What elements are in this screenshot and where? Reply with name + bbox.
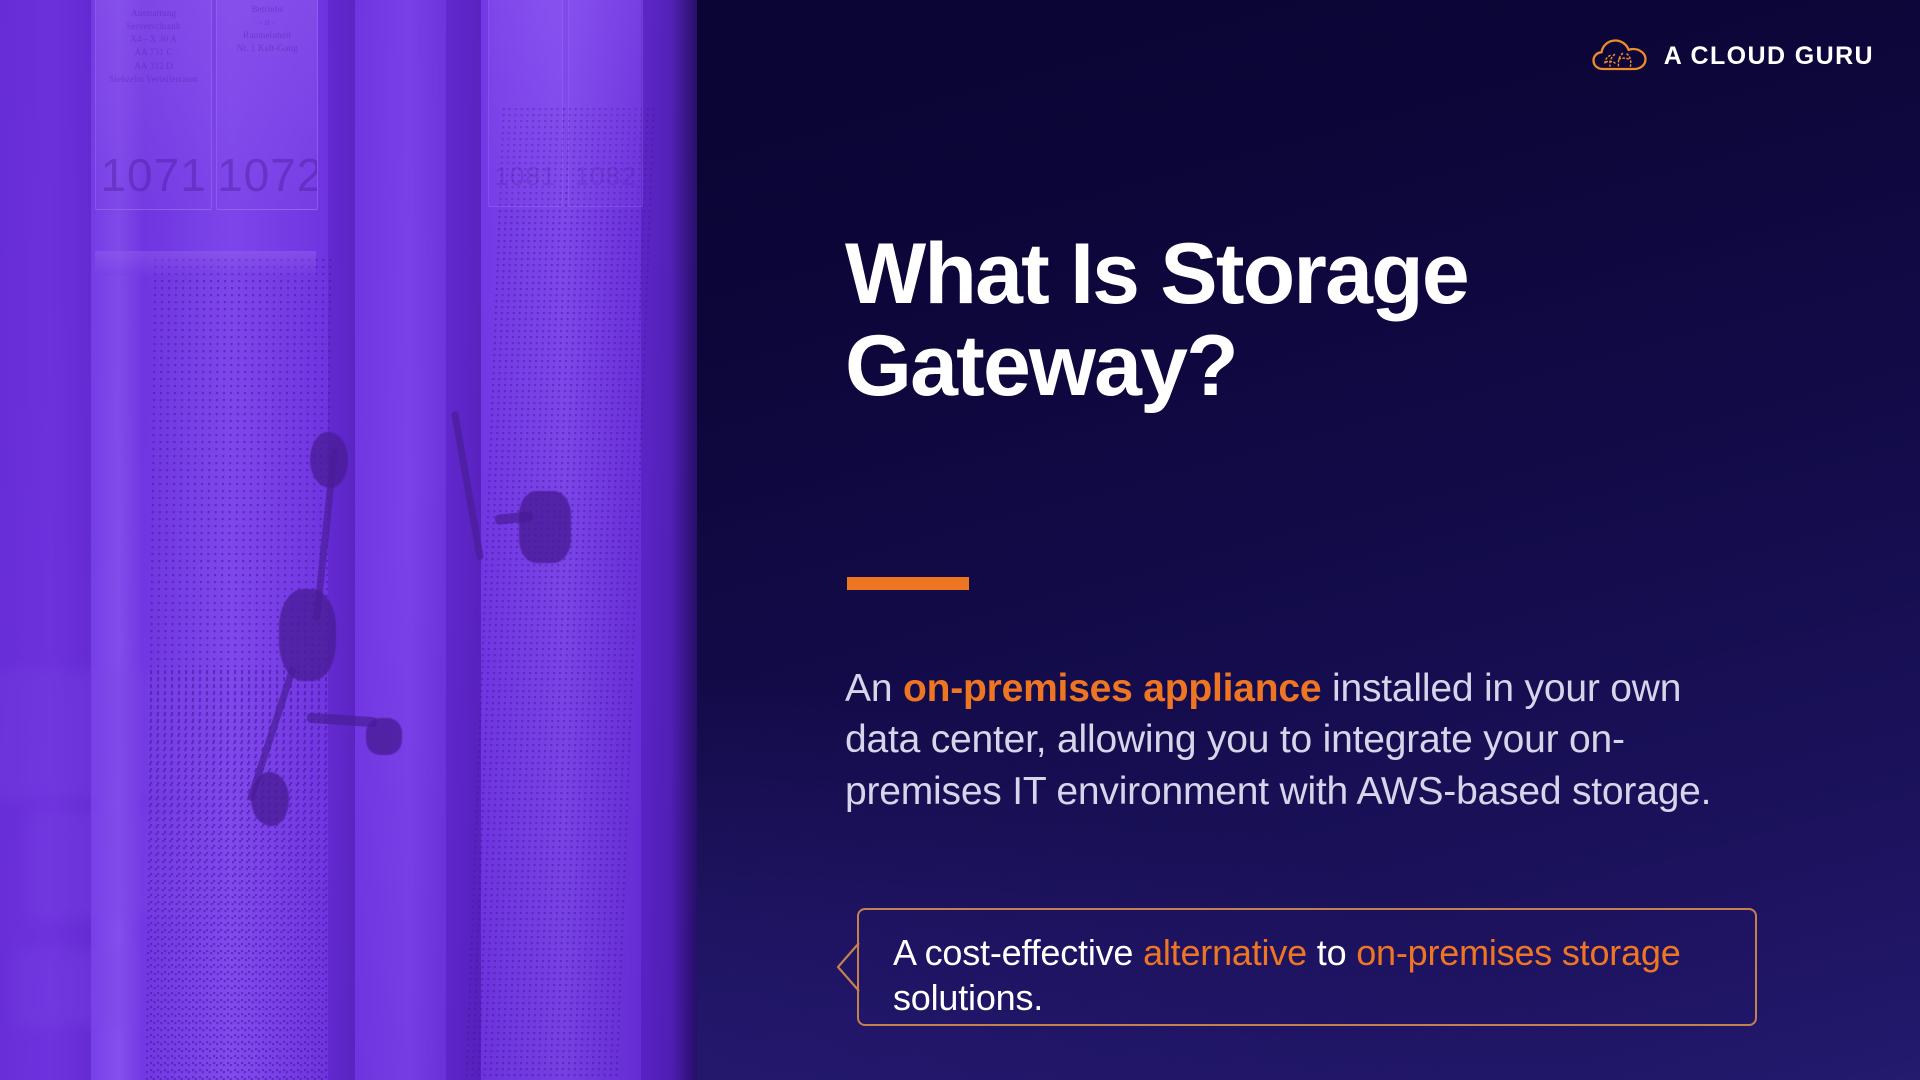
page-title: What Is Storage Gateway? [845, 228, 1605, 412]
orange-accent-bar [847, 577, 969, 590]
callout-paragraph: A cost-effective alternative to on-premi… [893, 930, 1729, 1021]
photo-purple-tint [0, 0, 697, 1080]
body-highlight: on-premises appliance [903, 667, 1321, 710]
callout-highlight-2: on-premises storage [1356, 932, 1680, 973]
content-column: What Is Storage Gateway? An on-premises … [845, 0, 1805, 1080]
body-text-part1: An [845, 667, 903, 710]
callout-part3: solutions. [893, 977, 1043, 1018]
callout-part1: A cost-effective [893, 932, 1143, 973]
callout-bubble: A cost-effective alternative to on-premi… [857, 908, 1757, 1026]
photo-right-edge-fade [671, 0, 697, 1080]
callout-box: A cost-effective alternative to on-premi… [857, 908, 1757, 1026]
callout-tail-icon [837, 943, 859, 991]
server-rack-photo: Ausstattung Serverschrank X4 - X 30 A AA… [0, 0, 697, 1080]
callout-highlight-1: alternative [1143, 932, 1307, 973]
callout-part2: to [1307, 932, 1356, 973]
body-paragraph: An on-premises appliance installed in yo… [845, 663, 1750, 817]
slide: Ausstattung Serverschrank X4 - X 30 A AA… [0, 0, 1920, 1080]
